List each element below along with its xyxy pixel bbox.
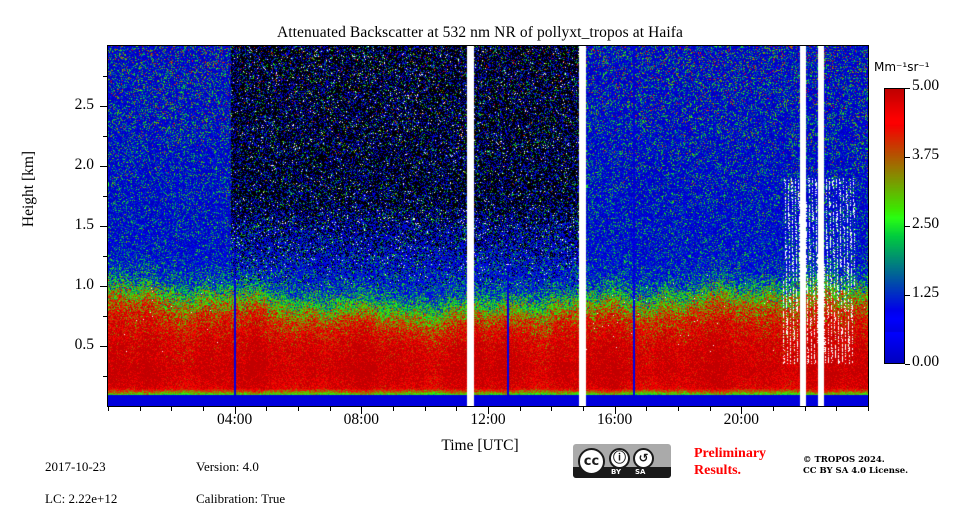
colorbar-tick [905, 88, 910, 89]
colorbar-tick [905, 226, 910, 227]
y-tick-minor [103, 196, 107, 197]
y-tick-minor [103, 76, 107, 77]
copyright-note: © TROPOS 2024. CC BY SA 4.0 License. [803, 455, 908, 477]
x-tick-minor [836, 407, 837, 411]
footer-version-calibration: Version: 4.0 Calibration: True [196, 443, 285, 507]
y-tick-label: 2.0 [48, 156, 94, 174]
y-tick-minor [103, 376, 107, 377]
x-tick-minor [108, 407, 109, 411]
y-tick-major [100, 166, 107, 167]
x-tick-minor [551, 407, 552, 411]
x-tick-minor [140, 407, 141, 411]
preliminary-results-note: Preliminary Results. [694, 445, 766, 479]
footer-lidar-constant: LC: 2.22e+12 [45, 491, 117, 506]
x-tick-label: 04:00 [195, 411, 275, 429]
x-tick-minor [678, 407, 679, 411]
colorbar-tick [905, 295, 910, 296]
cc-sa-label: SA [635, 467, 645, 478]
colorbar [884, 88, 905, 364]
cc-sa-icon: ↺ [633, 448, 654, 469]
footer-calibration: Calibration: True [196, 491, 285, 506]
cc-by-label: BY [611, 467, 621, 478]
colorbar-tick-label: 1.25 [912, 284, 939, 302]
y-tick-major [100, 346, 107, 347]
x-tick-label: 16:00 [575, 411, 655, 429]
colorbar-tick-label: 0.00 [912, 353, 939, 371]
y-tick-major [100, 226, 107, 227]
y-tick-label: 0.5 [48, 336, 94, 354]
y-tick-minor [103, 256, 107, 257]
x-tick-minor [298, 407, 299, 411]
plot-area [107, 45, 869, 407]
colorbar-tick [905, 157, 910, 158]
cc-icon: cc [578, 448, 605, 475]
y-tick-label: 1.5 [48, 216, 94, 234]
page-title: Attenuated Backscatter at 532 nm NR of p… [0, 24, 960, 42]
colorbar-unit-label: Mm⁻¹sr⁻¹ [874, 60, 930, 74]
x-tick-minor [171, 407, 172, 411]
x-tick-label: 20:00 [701, 411, 781, 429]
footer-date: 2017-10-23 [45, 459, 106, 474]
backscatter-heatmap [108, 46, 868, 406]
x-tick-minor [868, 407, 869, 411]
x-tick-label: 08:00 [321, 411, 401, 429]
x-tick-minor [425, 407, 426, 411]
y-tick-major [100, 106, 107, 107]
colorbar-tick-label: 2.50 [912, 215, 939, 233]
x-tick-minor [805, 407, 806, 411]
y-tick-label: 1.0 [48, 276, 94, 294]
cc-by-icon: ⓘ [609, 448, 630, 469]
x-tick-label: 12:00 [448, 411, 528, 429]
y-tick-major [100, 286, 107, 287]
colorbar-gradient [885, 89, 904, 363]
y-tick-label: 2.5 [48, 96, 94, 114]
colorbar-tick [905, 364, 910, 365]
x-axis-label: Time [UTC] [0, 437, 960, 455]
footer-date-lc: 2017-10-23 LC: 2.22e+12 [45, 443, 117, 507]
colorbar-tick-label: 3.75 [912, 146, 939, 164]
y-tick-minor [103, 136, 107, 137]
lidar-quicklook-figure: Attenuated Backscatter at 532 nm NR of p… [0, 0, 960, 480]
footer-version: Version: 4.0 [196, 459, 259, 474]
y-axis-label: Height [km] [20, 39, 38, 339]
colorbar-tick-label: 5.00 [912, 77, 939, 95]
y-tick-minor [103, 316, 107, 317]
cc-license-badge[interactable]: cc ⓘ ↺ BY SA [573, 444, 671, 478]
